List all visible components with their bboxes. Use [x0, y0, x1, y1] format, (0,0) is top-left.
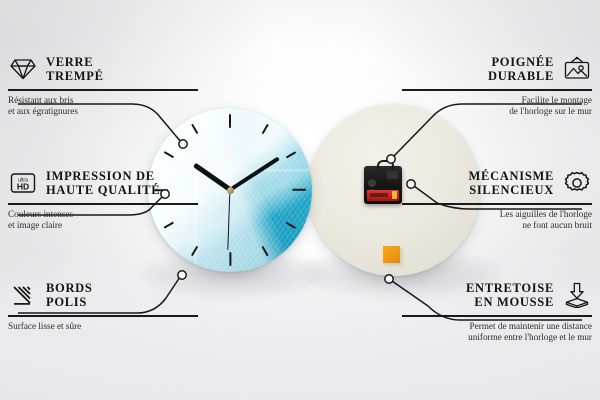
feature-subtitle-line2: ne font aucun bruit [402, 220, 592, 231]
feature-subtitle-line2: et aux égratignures [8, 106, 198, 117]
product-feature-infographic: VERRE TREMPÉ Résistant aux bris et aux é… [0, 0, 600, 400]
feature-bords-polis: BORDS POLIS Surface lisse et sûre [8, 278, 198, 332]
feature-title-line2: POLIS [46, 295, 93, 309]
feature-title: VERRE TREMPÉ [46, 55, 104, 83]
hanging-hook-icon [377, 160, 394, 170]
feature-header: ultra HD IMPRESSION DE HAUTE QUALITÉ [8, 166, 198, 200]
feature-title: IMPRESSION DE HAUTE QUALITÉ [46, 169, 160, 197]
feature-title-line1: VERRE [46, 55, 104, 69]
feature-subtitle: Facilite le montage de l'horloge sur le … [402, 95, 592, 118]
svg-text:HD: HD [17, 181, 29, 191]
feature-subtitle-line2: et image claire [8, 220, 198, 231]
feature-header: MÉCANISME SILENCIEUX [402, 166, 592, 200]
feature-header: VERRE TREMPÉ [8, 52, 198, 86]
mechanism-dial-upper [368, 179, 376, 187]
arrow-press-pad-icon [562, 280, 592, 310]
feature-subtitle: Résistant aux bris et aux égratignures [8, 95, 198, 118]
feature-impression-haute-qualite: ultra HD IMPRESSION DE HAUTE QUALITÉ Cou… [8, 166, 198, 231]
clock-center-cap [227, 187, 234, 194]
feature-divider [8, 315, 198, 317]
feature-subtitle-line1: Les aiguilles de l'horloge [402, 209, 592, 220]
feature-subtitle-line1: Résistant aux bris [8, 95, 198, 106]
feature-subtitle-line1: Facilite le montage [402, 95, 592, 106]
feature-divider [402, 203, 592, 205]
gear-icon [562, 168, 592, 198]
battery-label-stripe [370, 193, 388, 197]
feature-title-line2: SILENCIEUX [469, 183, 554, 197]
feature-subtitle: Couleurs intenses et image claire [8, 209, 198, 232]
feature-title-line2: DURABLE [488, 69, 554, 83]
feature-subtitle: Permet de maintenir une distance uniform… [402, 321, 592, 344]
ultra-hd-icon: ultra HD [8, 168, 38, 198]
mechanism-slot [387, 171, 398, 179]
feature-title-line2: EN MOUSSE [466, 295, 554, 309]
feature-title-line2: TREMPÉ [46, 69, 104, 83]
feature-subtitle: Surface lisse et sûre [8, 321, 198, 332]
polished-edge-icon [8, 280, 38, 310]
feature-entretoise-en-mousse: ENTRETOISE EN MOUSSE Permet de maintenir… [402, 278, 592, 343]
feature-subtitle-line2: de l'horloge sur le mur [402, 106, 592, 117]
feature-divider [8, 203, 198, 205]
feature-title-line1: ENTRETOISE [466, 281, 554, 295]
battery [367, 190, 399, 201]
feature-divider [402, 315, 592, 317]
hanging-picture-icon [562, 54, 592, 84]
battery-positive-tip [392, 191, 397, 199]
feature-subtitle: Les aiguilles de l'horloge ne font aucun… [402, 209, 592, 232]
feature-header: BORDS POLIS [8, 278, 198, 312]
feature-verre-trempe: VERRE TREMPÉ Résistant aux bris et aux é… [8, 52, 198, 117]
foam-spacer [383, 246, 400, 263]
feature-subtitle-line1: Permet de maintenir une distance [402, 321, 592, 332]
feature-subtitle-line2: uniforme entre l'horloge et le mur [402, 332, 592, 343]
feature-title: ENTRETOISE EN MOUSSE [466, 281, 554, 309]
feature-title-line1: POIGNÉE [488, 55, 554, 69]
feature-title-line2: HAUTE QUALITÉ [46, 183, 160, 197]
feature-title-line1: IMPRESSION DE [46, 169, 160, 183]
feature-subtitle-line1: Surface lisse et sûre [8, 321, 198, 332]
feature-title-line1: MÉCANISME [469, 169, 554, 183]
feature-title-line1: BORDS [46, 281, 93, 295]
feature-header: ENTRETOISE EN MOUSSE [402, 278, 592, 312]
feature-divider [8, 89, 198, 91]
feature-title: BORDS POLIS [46, 281, 93, 309]
feature-title: POIGNÉE DURABLE [488, 55, 554, 83]
diamond-icon [8, 54, 38, 84]
feature-title: MÉCANISME SILENCIEUX [469, 169, 554, 197]
clock-tick [229, 252, 231, 266]
feature-poignee-durable: POIGNÉE DURABLE Facilite le montage de l… [402, 52, 592, 117]
feature-header: POIGNÉE DURABLE [402, 52, 592, 86]
feature-mecanisme-silencieux: MÉCANISME SILENCIEUX Les aiguilles de l'… [402, 166, 592, 231]
clock-mechanism-module [364, 166, 402, 204]
feature-subtitle-line1: Couleurs intenses [8, 209, 198, 220]
feature-divider [402, 89, 592, 91]
